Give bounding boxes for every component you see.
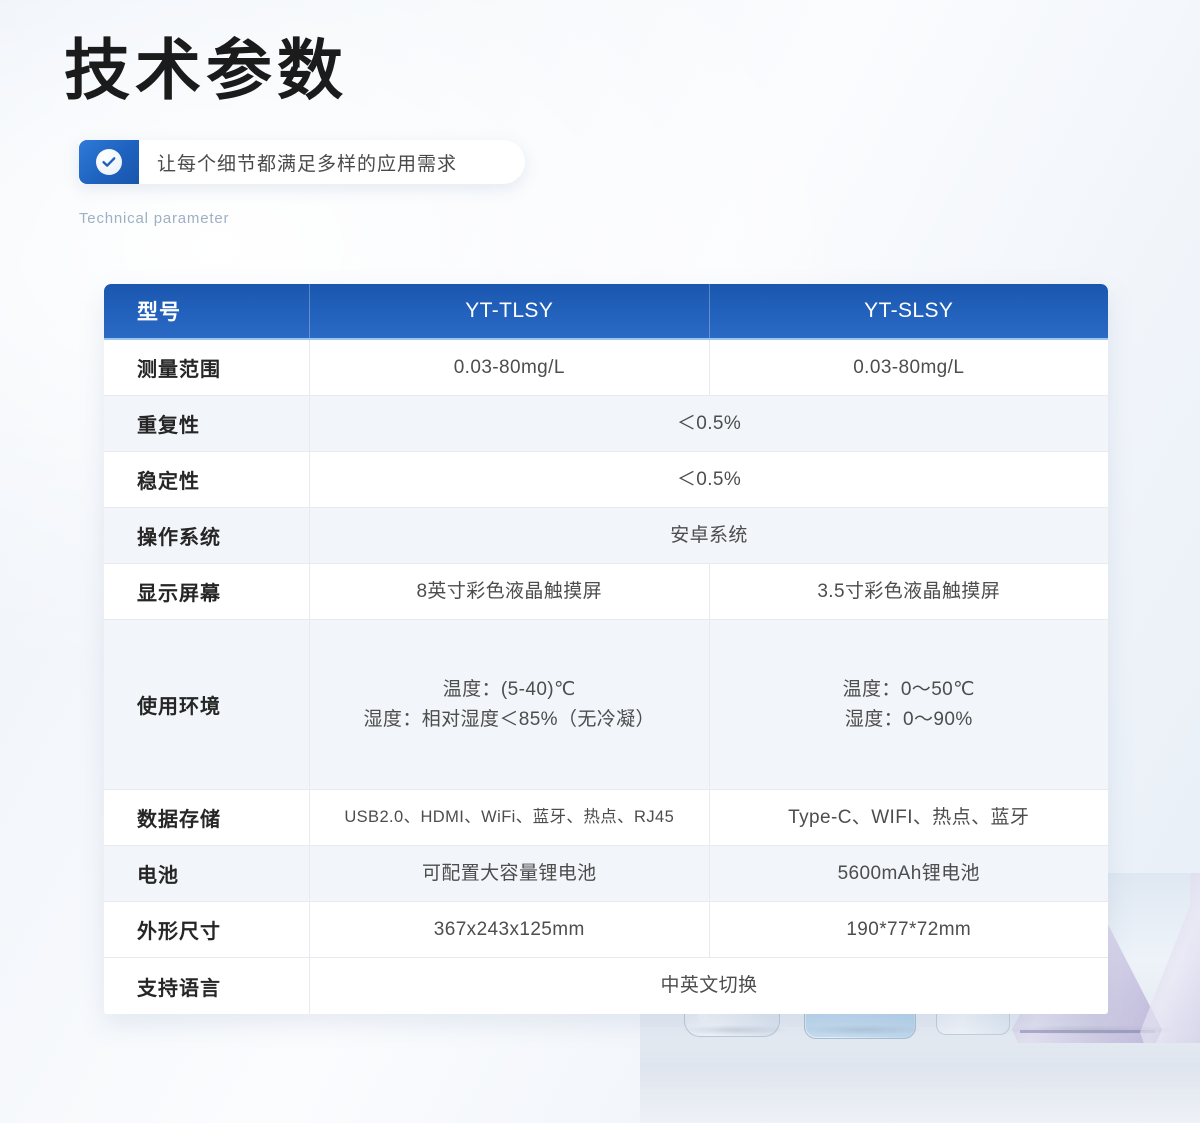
column-header-yt-slsy: YT-SLSY [709, 284, 1109, 338]
row-value-merged: 中英文切换 [309, 958, 1108, 1014]
page-subtitle-en: Technical parameter [79, 210, 229, 227]
row-value-col1: 可配置大容量锂电池 [309, 846, 709, 901]
env-col1-humidity: 湿度：相对湿度＜85%（无冷凝） [364, 705, 655, 734]
page-heading: 技术参数 [64, 34, 348, 108]
table-row: 使用环境 温度：(5-40)℃ 湿度：相对湿度＜85%（无冷凝） 温度：0～50… [104, 620, 1108, 790]
glass-shadow [798, 1025, 926, 1035]
column-header-model: 型号 [104, 284, 309, 338]
row-value-col1: USB2.0、HDMI、WiFi、蓝牙、热点、RJ45 [309, 790, 709, 845]
glass-shadow [680, 1025, 790, 1035]
check-circle-ring [96, 149, 122, 175]
row-label: 外形尺寸 [104, 902, 309, 957]
page-title: 技术参数 [64, 34, 348, 108]
env-col2-humidity: 湿度：0～90% [843, 705, 975, 734]
row-value-col1: 8英寸彩色液晶触摸屏 [309, 564, 709, 619]
spec-table: 型号 YT-TLSY YT-SLSY 测量范围 0.03-80mg/L 0.03… [104, 284, 1108, 1014]
table-row: 显示屏幕 8英寸彩色液晶触摸屏 3.5寸彩色液晶触摸屏 [104, 564, 1108, 620]
table-row: 操作系统 安卓系统 [104, 508, 1108, 564]
row-value-col2: 5600mAh锂电池 [709, 846, 1109, 901]
env-col1-temperature: 温度：(5-40)℃ [364, 675, 655, 704]
table-row: 稳定性 ＜0.5% [104, 452, 1108, 508]
row-value-merged: ＜0.5% [309, 396, 1108, 451]
row-value-merged: 安卓系统 [309, 508, 1108, 563]
table-header-row: 型号 YT-TLSY YT-SLSY [104, 284, 1108, 340]
row-label: 测量范围 [104, 340, 309, 395]
row-value-col1: 0.03-80mg/L [309, 340, 709, 395]
table-row: 外形尺寸 367x243x125mm 190*77*72mm [104, 902, 1108, 958]
row-value-col2: 3.5寸彩色液晶触摸屏 [709, 564, 1109, 619]
glass-shadow [1000, 1025, 1180, 1035]
row-label: 电池 [104, 846, 309, 901]
table-row: 电池 可配置大容量锂电池 5600mAh锂电池 [104, 846, 1108, 902]
row-label: 操作系统 [104, 508, 309, 563]
row-label: 显示屏幕 [104, 564, 309, 619]
check-circle-icon [79, 140, 139, 184]
row-label: 使用环境 [104, 620, 309, 789]
row-value-merged: ＜0.5% [309, 452, 1108, 507]
row-value-col1: 367x243x125mm [309, 902, 709, 957]
table-row: 数据存储 USB2.0、HDMI、WiFi、蓝牙、热点、RJ45 Type-C、… [104, 790, 1108, 846]
row-label: 支持语言 [104, 958, 309, 1014]
env-col2-temperature: 温度：0～50℃ [843, 675, 975, 704]
tagline-text: 让每个细节都满足多样的应用需求 [157, 140, 457, 184]
table-row: 支持语言 中英文切换 [104, 958, 1108, 1014]
row-value-col2: 温度：0～50℃ 湿度：0～90% [709, 620, 1109, 789]
table-row: 重复性 ＜0.5% [104, 396, 1108, 452]
row-value-col2: 190*77*72mm [709, 902, 1109, 957]
row-label: 数据存储 [104, 790, 309, 845]
row-value-col2: 0.03-80mg/L [709, 340, 1109, 395]
row-value-col2: Type-C、WIFI、热点、蓝牙 [709, 790, 1109, 845]
table-row: 测量范围 0.03-80mg/L 0.03-80mg/L [104, 340, 1108, 396]
column-header-yt-tlsy: YT-TLSY [309, 284, 709, 338]
row-label: 稳定性 [104, 452, 309, 507]
row-value-col1: 温度：(5-40)℃ 湿度：相对湿度＜85%（无冷凝） [309, 620, 709, 789]
row-label: 重复性 [104, 396, 309, 451]
tagline-pill: 让每个细节都满足多样的应用需求 [79, 140, 525, 184]
